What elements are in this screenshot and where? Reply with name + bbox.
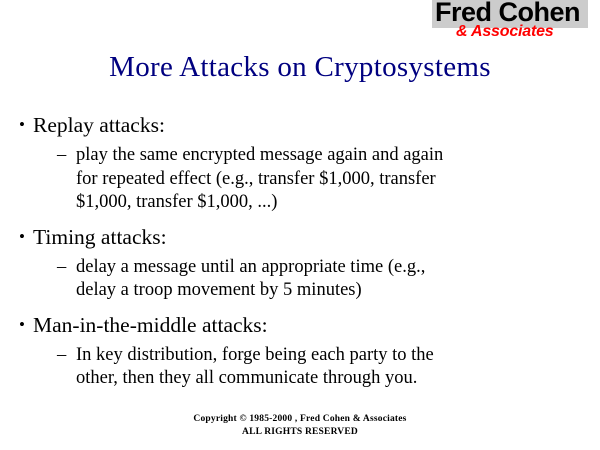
sub-bullet-item: – delay a message until an appropriate t… — [0, 256, 531, 280]
rights-line: ALL RIGHTS RESERVED — [0, 426, 600, 439]
sub-bullet-line: for repeated effect (e.g., transfer $1,0… — [76, 169, 436, 189]
bullet-label: Timing attacks: — [33, 225, 167, 249]
bullet-item-replay-attacks: • Replay attacks: — [0, 110, 600, 140]
sub-bullet-item: $1,000, transfer $1,000, ...) — [0, 191, 531, 215]
slide-title: More Attacks on Cryptosystems — [0, 51, 600, 84]
sub-bullet-item: other, then they all communicate through… — [0, 367, 531, 391]
sub-bullet-item: delay a troop movement by 5 minutes) — [0, 279, 531, 303]
bullet-marker-icon: • — [19, 222, 25, 252]
spacer — [0, 215, 600, 222]
bullet-marker-icon: • — [19, 310, 25, 340]
bullet-label: Man-in-the-middle attacks: — [33, 313, 268, 337]
spacer — [0, 303, 600, 310]
sub-bullet-line: other, then they all communicate through… — [76, 368, 417, 388]
sub-bullet-line: In key distribution, forge being each pa… — [76, 345, 434, 365]
slide-canvas: Fred Cohen & Associates More Attacks on … — [0, 0, 600, 450]
sub-bullet-line: $1,000, transfer $1,000, ...) — [76, 192, 277, 212]
dash-marker-icon: – — [57, 344, 66, 368]
bullet-item-timing-attacks: • Timing attacks: — [0, 222, 600, 252]
copyright-line: Copyright © 1985-2000 , Fred Cohen & Ass… — [0, 413, 600, 426]
dash-marker-icon: – — [57, 144, 66, 168]
bullet-marker-icon: • — [19, 110, 25, 140]
sub-bullet-line: delay a troop movement by 5 minutes) — [76, 280, 362, 300]
copyright-footer: Copyright © 1985-2000 , Fred Cohen & Ass… — [0, 413, 600, 438]
sub-bullet-line: play the same encrypted message again an… — [76, 145, 443, 165]
sub-bullet-item: – In key distribution, forge being each … — [0, 344, 531, 368]
bullet-label: Replay attacks: — [33, 113, 165, 137]
logo-tagline: & Associates — [456, 23, 596, 40]
bullet-item-man-in-the-middle-attacks: • Man-in-the-middle attacks: — [0, 310, 600, 340]
dash-marker-icon: – — [57, 256, 66, 280]
slide-body: • Replay attacks: – play the same encryp… — [0, 110, 600, 391]
logo: Fred Cohen & Associates — [432, 0, 588, 43]
sub-bullet-line: delay a message until an appropriate tim… — [76, 257, 425, 277]
sub-bullet-item: – play the same encrypted message again … — [0, 144, 531, 168]
sub-bullet-item: for repeated effect (e.g., transfer $1,0… — [0, 168, 531, 192]
